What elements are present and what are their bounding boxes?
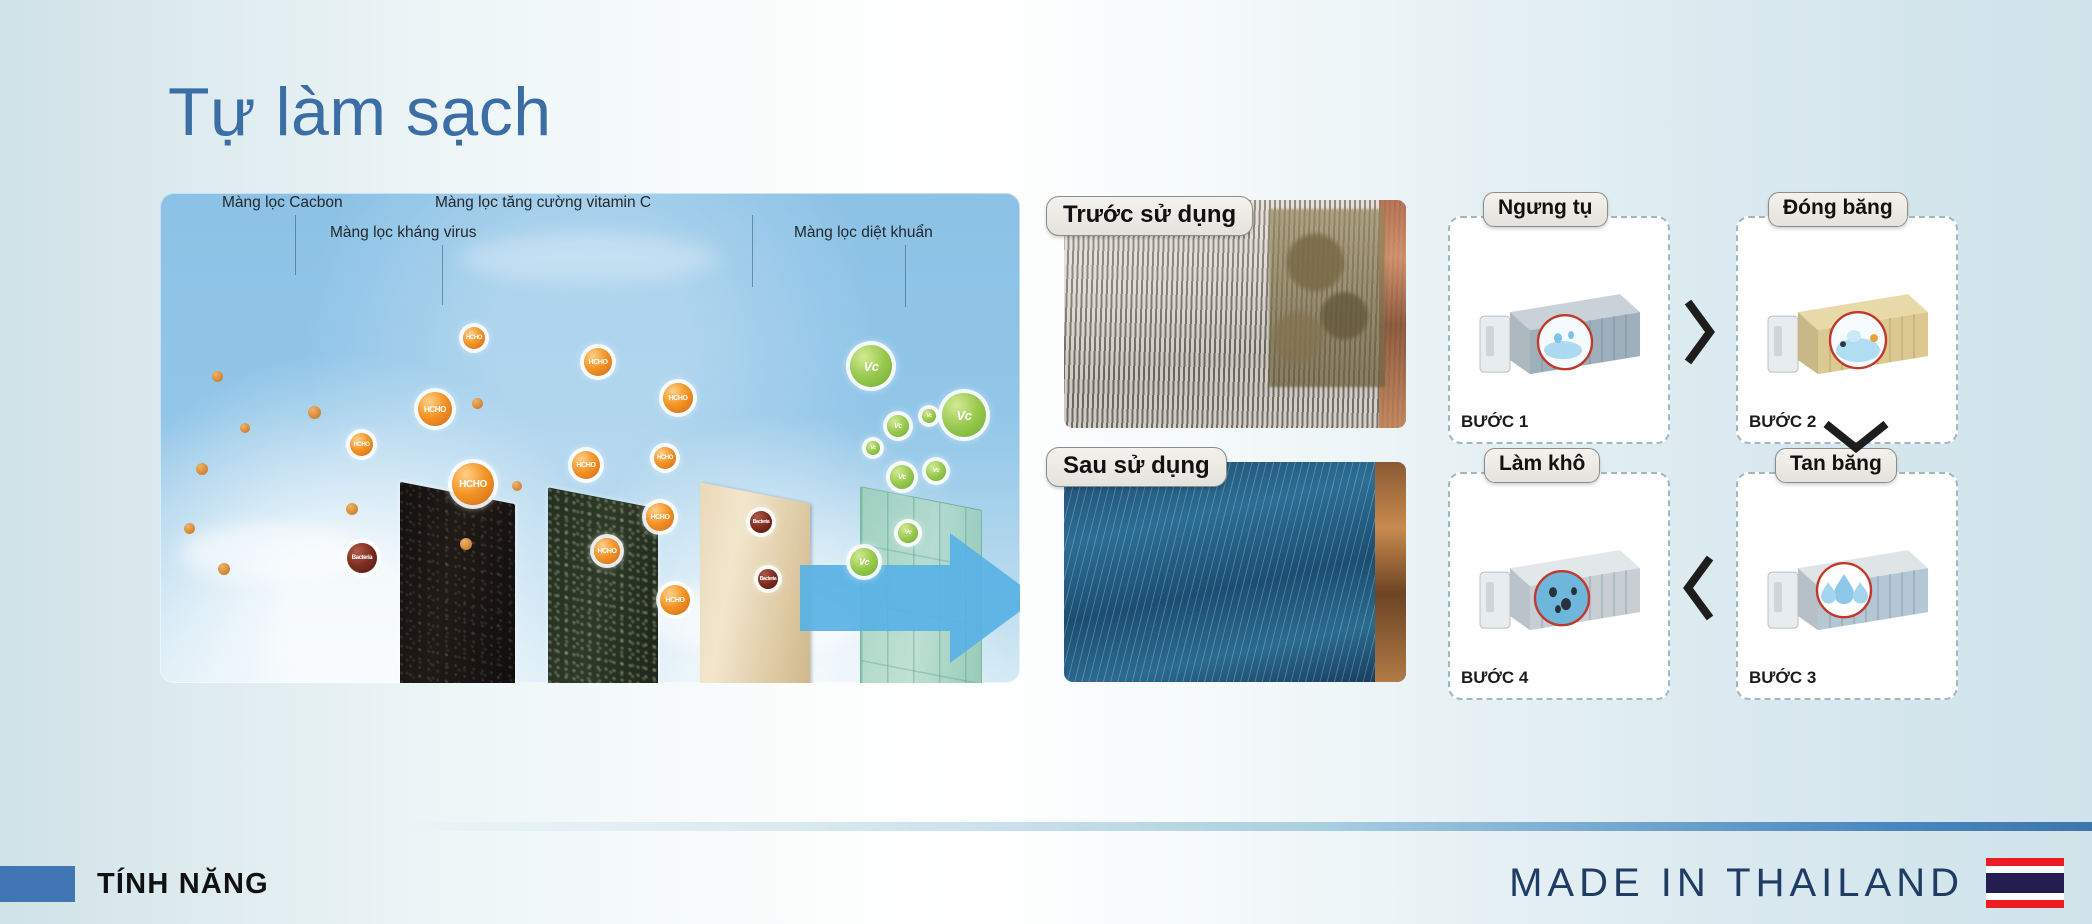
dust-particle <box>346 503 358 515</box>
cloud-decoration <box>180 523 360 583</box>
dust-particle <box>472 398 483 409</box>
dust-particle <box>512 481 522 491</box>
bacteria-particle: Bacteria <box>750 511 772 533</box>
vitamin-c-particle: Vc <box>887 415 909 437</box>
hcho-particle: HCHO <box>418 392 452 426</box>
step-number-4: BƯỚC 4 <box>1461 668 1528 688</box>
footer-left: TÍNH NĂNG <box>0 866 269 902</box>
dust-particle <box>184 523 195 534</box>
vitamin-c-particle: Vc <box>890 465 914 489</box>
footer-accent-block <box>0 866 75 902</box>
hcho-particle: HCHO <box>654 447 676 469</box>
antivirus-filter-membrane <box>548 487 658 683</box>
made-in-thailand-label: MADE IN THAILAND <box>1509 861 1964 906</box>
vitamin-c-particle: Vc <box>926 461 946 481</box>
air-filter-illustration-panel: HCHO HCHO HCHO HCHO Bacteria HCHO HCHO H… <box>160 193 1020 683</box>
bacteria-particle: Bacteria <box>347 543 377 573</box>
dust-particle <box>212 371 223 382</box>
vitamin-c-particle: Vc <box>942 393 986 437</box>
hcho-particle: HCHO <box>660 585 690 615</box>
coil-condensation-icon <box>1470 282 1648 386</box>
page-title: Tự làm sạch <box>168 78 552 146</box>
step-box-1: BƯỚC 1 <box>1448 216 1670 444</box>
chevron-left-icon <box>1680 552 1718 624</box>
dust-particle <box>218 563 230 575</box>
thailand-flag-icon <box>1986 858 2064 908</box>
filter-label-carbon: Màng lọc Cacbon <box>222 194 343 212</box>
step-number-3: BƯỚC 3 <box>1749 668 1816 688</box>
vitamin-c-particle: Vc <box>922 409 936 423</box>
coil-drying-icon <box>1470 538 1648 642</box>
footer-right: MADE IN THAILAND <box>1509 858 2064 908</box>
dust-particle <box>240 423 250 433</box>
chevron-down-icon <box>1818 418 1894 460</box>
label-leader-line <box>905 245 906 307</box>
footer-section-label: TÍNH NĂNG <box>97 868 269 901</box>
carbon-filter-membrane <box>400 482 515 683</box>
hcho-particle: HCHO <box>594 538 620 564</box>
badge-after-use: Sau sử dụng <box>1046 447 1227 487</box>
label-leader-line <box>295 215 296 275</box>
filter-label-vitamin-c: Màng lọc tăng cường vitamin C <box>435 194 651 212</box>
label-leader-line <box>752 215 753 287</box>
footer-divider <box>392 822 2092 831</box>
vitamin-c-particle: Vc <box>850 548 878 576</box>
hcho-particle: HCHO <box>463 327 485 349</box>
dust-particle <box>308 406 321 419</box>
hcho-particle: HCHO <box>584 348 612 376</box>
vitamin-c-particle: Vc <box>850 345 892 387</box>
cloud-decoration <box>460 233 720 283</box>
badge-step-2-title: Đóng băng <box>1768 192 1908 227</box>
coil-photo-after-use <box>1064 462 1406 682</box>
step-box-2: BƯỚC 2 <box>1736 216 1958 444</box>
chevron-right-icon <box>1680 296 1718 368</box>
hcho-particle: HCHO <box>663 383 693 413</box>
dust-particle <box>196 463 208 475</box>
dust-particle <box>460 538 472 550</box>
hcho-particle: HCHO <box>572 451 600 479</box>
step-number-1: BƯỚC 1 <box>1461 412 1528 432</box>
vitamin-c-particle: Vc <box>866 441 880 455</box>
badge-step-4-title: Làm khô <box>1484 448 1600 483</box>
filter-label-antivirus: Màng lọc kháng virus <box>330 224 476 242</box>
hcho-particle: HCHO <box>452 463 494 505</box>
step-number-2: BƯỚC 2 <box>1749 412 1816 432</box>
hcho-particle: HCHO <box>646 503 674 531</box>
filter-label-antibacterial: Màng lọc diệt khuẩn <box>794 224 933 242</box>
step-box-3: BƯỚC 3 <box>1736 472 1958 700</box>
badge-before-use: Trước sử dụng <box>1046 196 1253 236</box>
badge-step-1-title: Ngưng tụ <box>1483 192 1608 227</box>
bacteria-particle: Bacteria <box>758 569 778 589</box>
step-box-4: BƯỚC 4 <box>1448 472 1670 700</box>
coil-freezing-icon <box>1758 282 1936 386</box>
vitamin-c-particle: Vc <box>898 523 918 543</box>
airflow-arrow-icon <box>800 523 1020 673</box>
hcho-particle: HCHO <box>350 433 373 456</box>
coil-defrost-icon <box>1758 538 1936 642</box>
label-leader-line <box>442 245 443 305</box>
